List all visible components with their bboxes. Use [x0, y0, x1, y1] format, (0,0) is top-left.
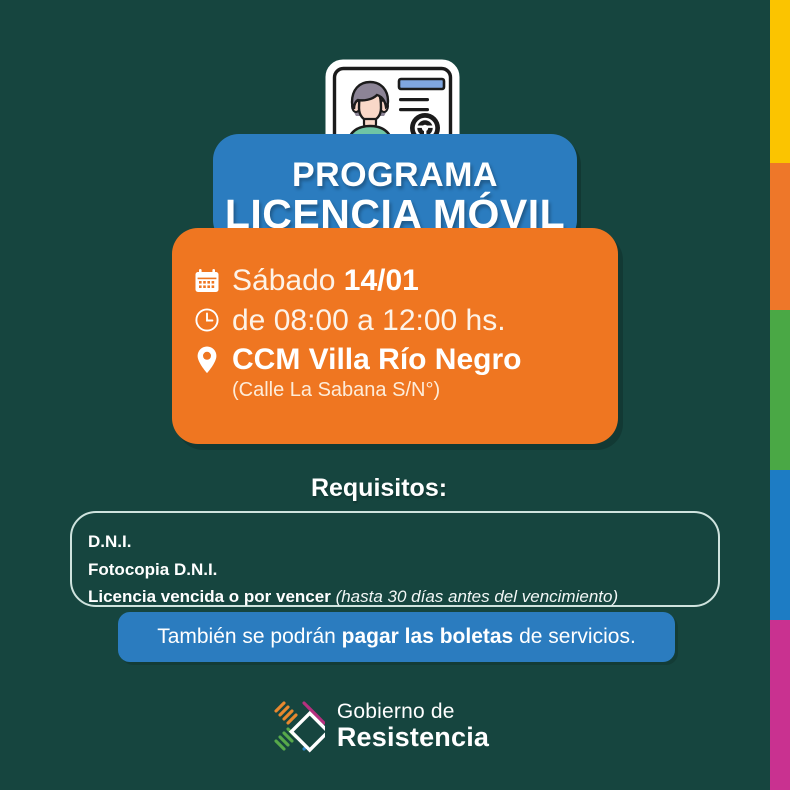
color-strip-segment-blue: [770, 470, 790, 620]
event-address-text: (Calle La Sabana S/N°): [232, 379, 604, 401]
requirements-title: Requisitos:: [0, 474, 758, 503]
footer-logo-line2: Resistencia: [337, 724, 489, 751]
payment-banner-text: También se podrán pagar las boletas de s…: [157, 625, 636, 649]
payment-banner: También se podrán pagar las boletas de s…: [118, 612, 675, 662]
color-strip-segment-green: [770, 310, 790, 470]
poster-canvas: PROGRAMA LICENCIA MÓVIL: [0, 0, 790, 790]
list-item: D.N.I.: [88, 528, 728, 556]
location-pin-icon: [194, 345, 232, 375]
footer-logo-line1: Gobierno de: [337, 701, 489, 722]
footer-logo: Gobierno de Resistencia: [0, 698, 758, 754]
event-date-row: Sábado 14/01: [194, 264, 604, 298]
event-place-row: CCM Villa Río Negro: [194, 343, 604, 377]
list-item: Licencia vencida o por vencer (hasta 30 …: [88, 583, 728, 611]
gobierno-resistencia-pinwheel-logo-icon: [269, 698, 325, 754]
event-place-text: CCM Villa Río Negro: [232, 343, 521, 377]
event-info-card: Sábado 14/01 de 08:00 a 12:00 hs.: [172, 228, 618, 444]
event-info-rows: Sábado 14/01 de 08:00 a 12:00 hs.: [194, 264, 604, 401]
event-date-text: Sábado 14/01: [232, 264, 419, 298]
footer-logo-text: Gobierno de Resistencia: [337, 701, 489, 751]
calendar-icon: [194, 268, 232, 294]
requirements-list: D.N.I. Fotocopia D.N.I. Licencia vencida…: [88, 528, 728, 611]
color-strip-segment-yellow: [770, 0, 790, 163]
event-time-text: de 08:00 a 12:00 hs.: [232, 304, 506, 338]
event-time-row: de 08:00 a 12:00 hs.: [194, 304, 604, 338]
color-strip-segment-magenta: [770, 620, 790, 790]
program-title-line1: PROGRAMA: [292, 158, 498, 193]
color-strip-segment-orange: [770, 163, 790, 310]
list-item: Fotocopia D.N.I.: [88, 556, 728, 584]
clock-icon: [194, 307, 232, 333]
color-strip: [770, 0, 790, 790]
